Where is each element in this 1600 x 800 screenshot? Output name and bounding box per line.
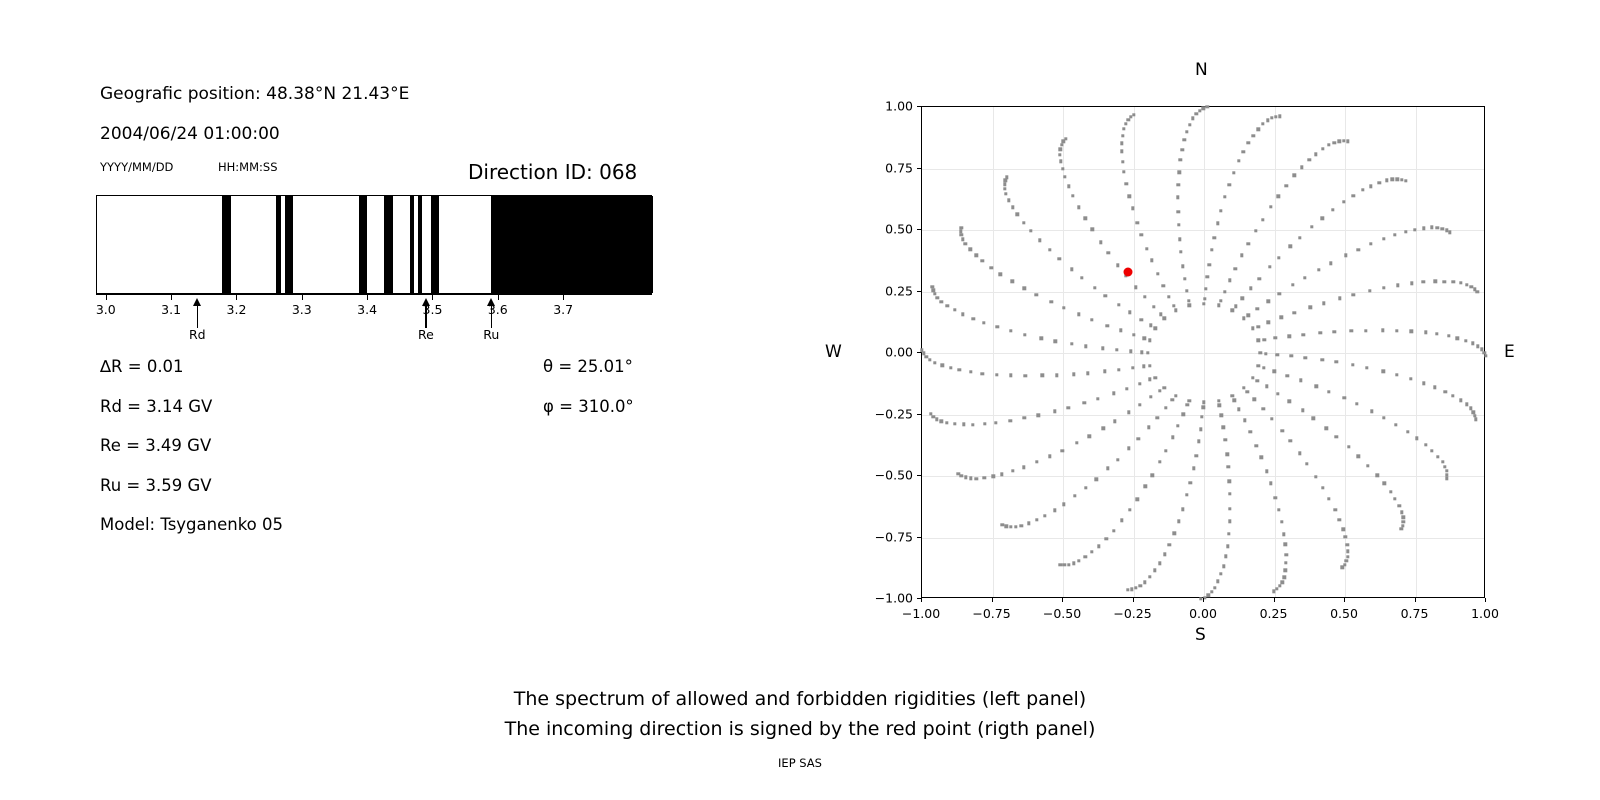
direction-dot (1167, 295, 1170, 298)
direction-dot (958, 368, 961, 371)
spectrum-tick (432, 294, 433, 300)
direction-dot (1368, 289, 1371, 292)
direction-dot (1305, 462, 1308, 465)
direction-dot (1391, 178, 1394, 181)
direction-dot (1410, 281, 1413, 284)
direction-dot (1153, 569, 1156, 572)
direction-dot (1168, 543, 1171, 546)
direction-dot (1248, 430, 1251, 433)
direction-dot (1298, 451, 1301, 454)
direction-dot (936, 296, 939, 299)
compass-north-label: N (1195, 60, 1208, 80)
forbidden-band (276, 196, 280, 293)
direction-dot (1333, 330, 1336, 333)
marker-label-ru: Ru (483, 327, 499, 342)
direction-dot (1213, 586, 1216, 589)
direction-dot (1179, 250, 1182, 253)
direction-dot (1441, 227, 1444, 230)
direction-id-label: Direction ID: 068 (468, 160, 637, 184)
direction-dot (1058, 257, 1061, 260)
direction-dot (1300, 166, 1303, 169)
forbidden-band (418, 196, 422, 293)
direction-dot (1397, 504, 1400, 507)
direction-dot (1146, 351, 1149, 354)
direction-dot (1266, 300, 1269, 303)
direction-dot (1112, 529, 1115, 532)
direction-dot (1268, 265, 1271, 268)
direction-dot (925, 355, 928, 358)
direction-dot (1404, 179, 1407, 182)
direction-dot (1010, 280, 1013, 283)
direction-dot (1023, 416, 1026, 419)
direction-dot (1090, 318, 1093, 321)
direction-dot (1106, 324, 1109, 327)
direction-dot (940, 300, 943, 303)
direction-dot (1237, 408, 1240, 411)
direction-dot (1282, 533, 1285, 536)
gridline-horizontal (922, 538, 1484, 539)
direction-dot (1132, 113, 1135, 116)
direction-dot (1280, 520, 1283, 523)
gridline-vertical (1134, 107, 1135, 597)
direction-dot (1283, 576, 1286, 579)
direction-dot (1022, 466, 1025, 469)
direction-dot (1223, 438, 1226, 441)
compass-south-label: S (1195, 625, 1206, 645)
direction-dot (1177, 520, 1180, 523)
polar-y-tick-label: −1.00 (855, 591, 913, 606)
direction-dot (1177, 223, 1180, 226)
direction-dot (1310, 225, 1313, 228)
direction-dot (1422, 381, 1425, 384)
direction-dot (983, 422, 986, 425)
direction-dot (1084, 345, 1087, 348)
direction-dot (1321, 486, 1324, 489)
direction-dot (1120, 142, 1123, 145)
direction-dot (1304, 356, 1307, 359)
direction-dot (1023, 333, 1026, 336)
direction-dot (1273, 369, 1276, 372)
spectrum-tick-label: 3.2 (227, 302, 247, 317)
polar-x-tick-label: 0.50 (1330, 606, 1358, 621)
direction-dot (1448, 231, 1451, 234)
direction-dot (1228, 507, 1231, 510)
direction-dot (1259, 456, 1262, 459)
direction-dot (1062, 502, 1065, 505)
direction-dot (1259, 351, 1262, 354)
direction-dot (962, 423, 965, 426)
direction-dot (1447, 334, 1450, 337)
direction-dot (1199, 427, 1202, 430)
direction-dot (1149, 324, 1152, 327)
direction-dot (968, 248, 971, 251)
direction-dot (1121, 134, 1124, 137)
direction-dot (1103, 370, 1106, 373)
direction-dot (1113, 419, 1116, 422)
direction-dot (1149, 395, 1152, 398)
direction-dot (1459, 399, 1462, 402)
direction-dot (1401, 516, 1404, 519)
direction-dot (1395, 329, 1398, 332)
direction-dot (1203, 297, 1206, 300)
direction-dot (1415, 437, 1418, 440)
direction-dot (1164, 406, 1167, 409)
direction-dot (1124, 122, 1127, 125)
direction-dot (945, 421, 948, 424)
incoming-direction-point[interactable] (1123, 267, 1132, 276)
direction-dot (1228, 520, 1231, 523)
direction-dot (1126, 118, 1129, 121)
direction-dot (1322, 301, 1325, 304)
direction-dot (981, 372, 984, 375)
direction-dot (922, 352, 925, 355)
direction-dot (1345, 543, 1348, 546)
direction-dot (1364, 329, 1367, 332)
direction-dot (1242, 150, 1245, 153)
direction-dot (1355, 402, 1358, 405)
direction-dot (1067, 563, 1070, 566)
direction-dot (1226, 545, 1229, 548)
polar-x-tick (1344, 598, 1345, 602)
direction-dot (1040, 336, 1043, 339)
spectrum-tick-label: 3.3 (292, 302, 312, 317)
direction-dot (1101, 347, 1104, 350)
direction-dot (1224, 555, 1227, 558)
direction-dot (1334, 360, 1337, 363)
direction-dot (1246, 390, 1249, 393)
polar-x-tick-label: 0.25 (1260, 606, 1288, 621)
direction-dot (1406, 430, 1409, 433)
direction-dot (1205, 105, 1208, 108)
direction-dot (1329, 261, 1332, 264)
direction-dot (960, 226, 963, 229)
direction-dot (1177, 183, 1180, 186)
direction-dot (1148, 378, 1151, 381)
direction-dot (1174, 309, 1177, 312)
polar-x-tick-label: −1.00 (902, 606, 940, 621)
direction-dot (1338, 297, 1341, 300)
direction-dot (975, 477, 978, 480)
direction-dot (1029, 229, 1032, 232)
direction-dot (982, 321, 985, 324)
direction-dot (1256, 379, 1259, 382)
direction-dot (1251, 327, 1254, 330)
direction-dot (960, 233, 963, 236)
direction-dot (1150, 259, 1153, 262)
direction-dot (1376, 473, 1379, 476)
direction-dot (1181, 508, 1184, 511)
direction-dot (1041, 374, 1044, 377)
direction-dot (1117, 303, 1120, 306)
direction-dot (946, 304, 949, 307)
direction-dot (1242, 386, 1245, 389)
direction-dot (1003, 187, 1006, 190)
direction-dot (1265, 385, 1268, 388)
gridline-vertical (1204, 107, 1205, 597)
direction-dot (1269, 205, 1272, 208)
direction-dot (1396, 177, 1399, 180)
direction-dot (999, 272, 1002, 275)
direction-dot (1181, 148, 1184, 151)
direction-dot (1327, 390, 1330, 393)
direction-dot (1424, 443, 1427, 446)
direction-dot (1099, 240, 1102, 243)
direction-dot (1185, 289, 1188, 292)
direction-dot (961, 238, 964, 241)
direction-dot (1188, 123, 1191, 126)
direction-dot (1413, 228, 1416, 231)
direction-dot (1122, 170, 1125, 173)
direction-dot (1116, 263, 1119, 266)
direction-dot (1452, 280, 1455, 283)
direction-dot (964, 476, 967, 479)
direction-dot (969, 370, 972, 373)
direction-dot (1140, 318, 1143, 321)
direction-dot (1153, 376, 1156, 379)
polar-x-tick (1274, 598, 1275, 602)
direction-dot (1132, 333, 1135, 336)
direction-dot (1234, 305, 1237, 308)
direction-dot (1436, 226, 1439, 229)
direction-dot (1464, 339, 1467, 342)
direction-dot (1219, 299, 1222, 302)
direction-dot (1035, 460, 1038, 463)
direction-dot (1072, 562, 1075, 565)
spectrum-tick-label: 3.7 (553, 302, 573, 317)
forbidden-band (491, 196, 653, 293)
spectrum-tick-label: 3.4 (357, 302, 377, 317)
polar-x-tick-label: 0.75 (1401, 606, 1429, 621)
direction-dot (949, 366, 952, 369)
parameter-3: Ru = 3.59 GV (100, 476, 212, 495)
direction-dot (1335, 435, 1338, 438)
direction-dot (1218, 404, 1221, 407)
direction-dot (1195, 454, 1198, 457)
parameter-1: Rd = 3.14 GV (100, 397, 212, 416)
gridline-horizontal (922, 476, 1484, 477)
direction-dot (1071, 194, 1074, 197)
direction-dot (1107, 251, 1110, 254)
spectrum-axis-line (96, 294, 652, 295)
polar-y-tick (917, 352, 921, 353)
direction-dot (1134, 286, 1137, 289)
direction-dot (1331, 208, 1334, 211)
direction-dot (1227, 465, 1230, 468)
parameter-0: ∆R = 0.01 (100, 357, 184, 376)
direction-dot (1222, 565, 1225, 568)
direction-dot (1321, 147, 1324, 150)
direction-dot (1365, 366, 1368, 369)
polar-y-tick-label: 1.00 (855, 99, 913, 114)
direction-dot (1060, 143, 1063, 146)
direction-dot (1312, 417, 1315, 420)
direction-dot (1097, 545, 1100, 548)
direction-dot (1084, 555, 1087, 558)
direction-dot (1320, 358, 1323, 361)
direction-dot (1148, 339, 1151, 342)
direction-dot (1147, 426, 1150, 429)
direction-dot (1459, 281, 1462, 284)
direction-dot (1144, 485, 1147, 488)
direction-dot (983, 476, 986, 479)
direction-dot (1344, 254, 1347, 257)
polar-y-tick (917, 229, 921, 230)
direction-dot (940, 364, 943, 367)
direction-dot (1210, 590, 1213, 593)
direction-dot (1396, 284, 1399, 287)
direction-dot (1366, 464, 1369, 467)
spectrum-tick-label: 3.0 (96, 302, 116, 317)
direction-dot (1090, 228, 1093, 231)
direction-dot (1333, 141, 1336, 144)
direction-dot (1277, 194, 1280, 197)
direction-dot (1063, 175, 1066, 178)
direction-dot (1183, 277, 1186, 280)
polar-x-tick (1415, 598, 1416, 602)
direction-dot (1346, 550, 1349, 553)
polar-y-tick-label: −0.25 (855, 406, 913, 421)
direction-dot (1156, 272, 1159, 275)
direction-dot (1035, 518, 1038, 521)
direction-dot (1217, 399, 1220, 402)
direction-dot (1216, 221, 1219, 224)
direction-dot (994, 421, 997, 424)
direction-dot (1102, 426, 1105, 429)
direction-dot (1257, 364, 1260, 367)
direction-dot (1178, 171, 1181, 174)
direction-dot (1061, 167, 1064, 170)
direction-dot (1219, 209, 1222, 212)
direction-dot (1202, 302, 1205, 305)
direction-dot (1059, 563, 1062, 566)
direction-dot (1058, 153, 1061, 156)
direction-dot (1436, 455, 1439, 458)
direction-dot (1443, 465, 1446, 468)
direction-dot (1382, 416, 1385, 419)
direction-dot (1288, 334, 1291, 337)
direction-dot (1128, 508, 1131, 511)
direction-dot (1143, 581, 1146, 584)
direction-dot (1290, 354, 1293, 357)
direction-dot (1011, 469, 1014, 472)
direction-dot (1016, 213, 1019, 216)
direction-dot (1278, 114, 1281, 117)
direction-dot (1148, 364, 1151, 367)
polar-x-tick-label: 1.00 (1471, 606, 1499, 621)
direction-dot (1138, 382, 1141, 385)
direction-dot (1280, 316, 1283, 319)
direction-dot (1217, 304, 1220, 307)
direction-dot (1471, 342, 1474, 345)
direction-dot (1255, 444, 1258, 447)
direction-dot (1342, 528, 1345, 531)
direction-dot (1350, 329, 1353, 332)
direction-dot (1278, 292, 1281, 295)
gridline-horizontal (922, 230, 1484, 231)
parameter-4: Model: Tsyganenko 05 (100, 515, 283, 534)
direction-dot (933, 361, 936, 364)
direction-dot (1424, 331, 1427, 334)
direction-dot (1251, 376, 1254, 379)
direction-dot (1199, 597, 1202, 600)
direction-dot (1038, 239, 1041, 242)
direction-dot (961, 313, 964, 316)
direction-dot (1156, 416, 1159, 419)
direction-dot (1277, 508, 1280, 511)
direction-dot (1219, 572, 1222, 575)
direction-dot (1369, 185, 1372, 188)
direction-dot (1409, 377, 1412, 380)
direction-dot (1232, 171, 1235, 174)
direction-dot (1277, 256, 1280, 259)
direction-dot (1125, 387, 1128, 390)
direction-dot (1247, 141, 1250, 144)
direction-dot (1153, 327, 1156, 330)
direction-dot (1163, 553, 1166, 556)
direction-dot (1022, 286, 1025, 289)
direction-dot (1116, 458, 1119, 461)
direction-dot (1127, 447, 1130, 450)
direction-dot (1222, 426, 1225, 429)
direction-dot (1201, 405, 1204, 408)
direction-dot (1249, 287, 1252, 290)
direction-dot (1261, 122, 1264, 125)
gridline-horizontal (922, 292, 1484, 293)
direction-dot (1370, 410, 1373, 413)
direction-dot (1177, 210, 1180, 213)
direction-dot (1298, 236, 1301, 239)
direction-dot (1382, 370, 1385, 373)
direction-dot (1176, 196, 1179, 199)
direction-dot (1005, 175, 1008, 178)
direction-dot (991, 475, 994, 478)
direction-dot (1187, 299, 1190, 302)
direction-dot (1062, 306, 1065, 309)
direction-dot (1393, 497, 1396, 500)
direction-dot (1262, 366, 1265, 369)
polar-y-tick (917, 106, 921, 107)
direction-dot (1352, 293, 1355, 296)
direction-dot (1208, 263, 1211, 266)
polar-y-tick (917, 414, 921, 415)
direction-dot (1061, 449, 1064, 452)
forbidden-band (359, 196, 367, 293)
parameter-2: Re = 3.49 GV (100, 436, 211, 455)
polar-x-tick-label: −0.50 (1043, 606, 1081, 621)
direction-dot (1086, 371, 1089, 374)
direction-dot (1314, 475, 1317, 478)
polar-y-tick (917, 537, 921, 538)
polar-x-tick-label: 0.00 (1189, 606, 1217, 621)
direction-dot (1094, 478, 1097, 481)
direction-dot (953, 308, 956, 311)
polar-x-tick-label: −0.25 (1113, 606, 1151, 621)
marker-arrow-shaft-rd (197, 305, 198, 328)
direction-dot (1080, 276, 1083, 279)
direction-dot (959, 229, 962, 232)
direction-dot (1317, 268, 1320, 271)
direction-dot (1185, 403, 1188, 406)
caption-line-2: The incoming direction is signed by the … (0, 718, 1600, 740)
direction-dot (1261, 218, 1264, 221)
direction-dot (1084, 486, 1087, 489)
direction-dot (1276, 392, 1279, 395)
direction-dot (1451, 394, 1454, 397)
polar-y-tick-label: 0.75 (855, 160, 913, 175)
direction-dot (1009, 374, 1012, 377)
angle-parameter-0: θ = 25.01° (543, 357, 633, 376)
direction-dot (1264, 352, 1267, 355)
